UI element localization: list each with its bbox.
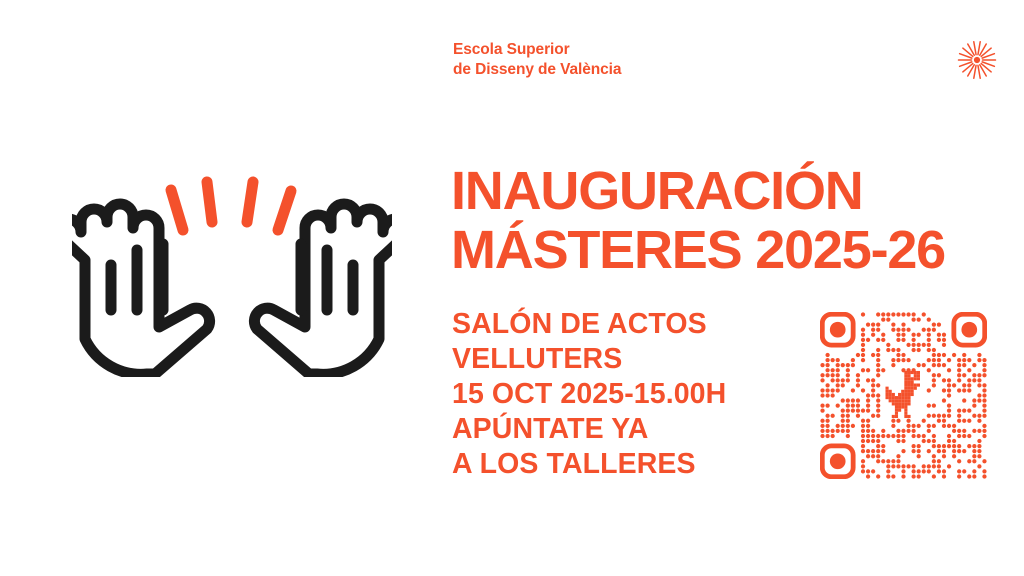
- page-title: INAUGURACIÓN MÁSTERES 2025-26: [451, 162, 996, 280]
- headline-line-1: INAUGURACIÓN: [451, 162, 996, 221]
- details-line-venue-name: VELLUTERS: [452, 342, 792, 377]
- details-line-venue: SALÓN DE ACTOS: [452, 307, 792, 342]
- details-line-cta-1: APÚNTATE YA: [452, 412, 792, 447]
- qr-code[interactable]: [820, 312, 987, 479]
- institution-logo-line-2: de Disseny de València: [453, 60, 621, 80]
- sunburst-icon: [957, 40, 997, 80]
- event-details: SALÓN DE ACTOS VELLUTERS 15 OCT 2025-15.…: [452, 307, 792, 482]
- celebration-rays: [171, 182, 291, 230]
- details-line-cta-2: A LOS TALLERES: [452, 447, 792, 482]
- headline-line-2: MÁSTERES 2025-26: [451, 221, 996, 280]
- institution-logo-line-1: Escola Superior: [453, 40, 621, 60]
- details-line-datetime: 15 OCT 2025-15.00H: [452, 377, 792, 412]
- institution-logo: Escola Superior de Disseny de València: [453, 40, 621, 80]
- raising-hands-icon: [72, 172, 392, 377]
